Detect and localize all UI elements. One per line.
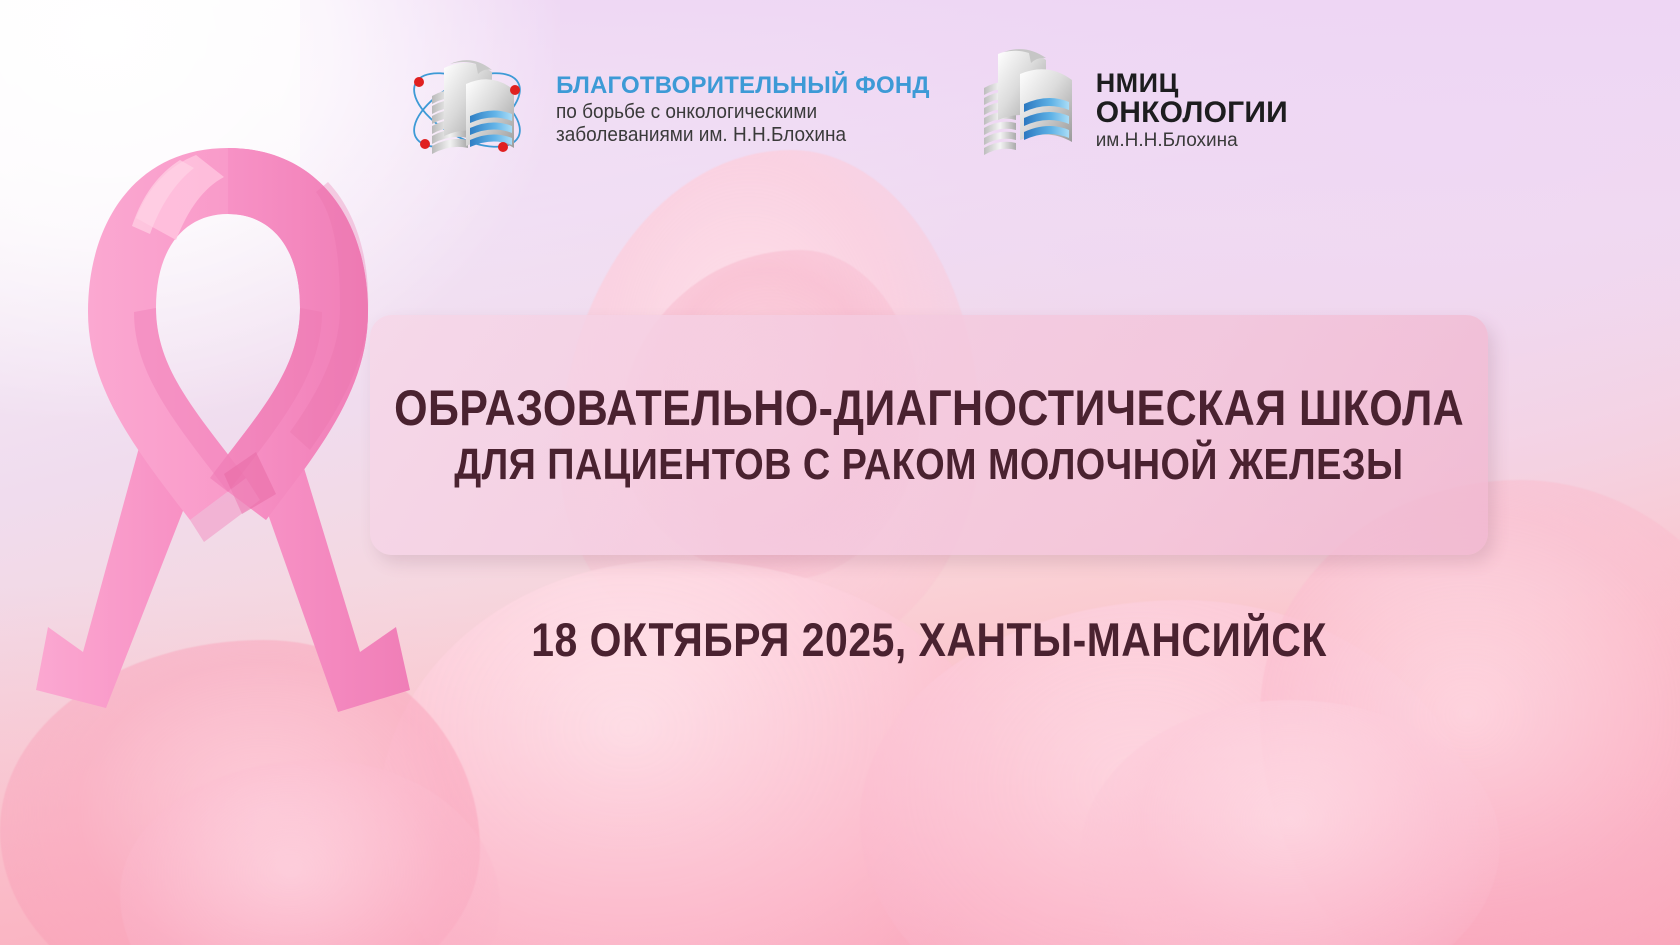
fund-logo-title: БЛАГОТВОРИТЕЛЬНЫЙ ФОНД bbox=[556, 72, 930, 99]
fund-logo-subtitle-line2: заболеваниями им. Н.Н.Блохина bbox=[556, 124, 911, 148]
page-title-line1: ОБРАЗОВАТЕЛЬНО-ДИАГНОСТИЧЕСКАЯ ШКОЛА bbox=[394, 380, 1464, 436]
nmic-logo: НМИЦ ОНКОЛОГИИ им.Н.Н.Блохина bbox=[978, 46, 1288, 174]
pink-awareness-ribbon-icon bbox=[28, 122, 428, 722]
fund-logo-text: БЛАГОТВОРИТЕЛЬНЫЙ ФОНД по борьбе с онкол… bbox=[556, 72, 930, 148]
page-title-line2: ДЛЯ ПАЦИЕНТОВ С РАКОМ МОЛОЧНОЙ ЖЕЛЕЗЫ bbox=[454, 440, 1403, 490]
nmic-logo-line2: ОНКОЛОГИИ bbox=[1096, 97, 1288, 129]
nmic-logo-line1: НМИЦ bbox=[1096, 69, 1288, 98]
fund-logo: БЛАГОТВОРИТЕЛЬНЫЙ ФОНД по борьбе с онкол… bbox=[392, 46, 930, 174]
poster-root: БЛАГОТВОРИТЕЛЬНЫЙ ФОНД по борьбе с онкол… bbox=[0, 0, 1680, 945]
title-panel: ОБРАЗОВАТЕЛЬНО-ДИАГНОСТИЧЕСКАЯ ШКОЛА ДЛЯ… bbox=[370, 315, 1488, 555]
fund-logo-subtitle-line1: по борьбе с онкологическими bbox=[556, 101, 911, 125]
nmic-spiral-logo-icon bbox=[978, 46, 1082, 174]
nmic-logo-text: НМИЦ ОНКОЛОГИИ им.Н.Н.Блохина bbox=[1096, 69, 1288, 152]
event-date-location: 18 ОКТЯБРЯ 2025, ХАНТЫ-МАНСИЙСК bbox=[443, 612, 1416, 667]
nmic-logo-line3: им.Н.Н.Блохина bbox=[1096, 131, 1288, 151]
